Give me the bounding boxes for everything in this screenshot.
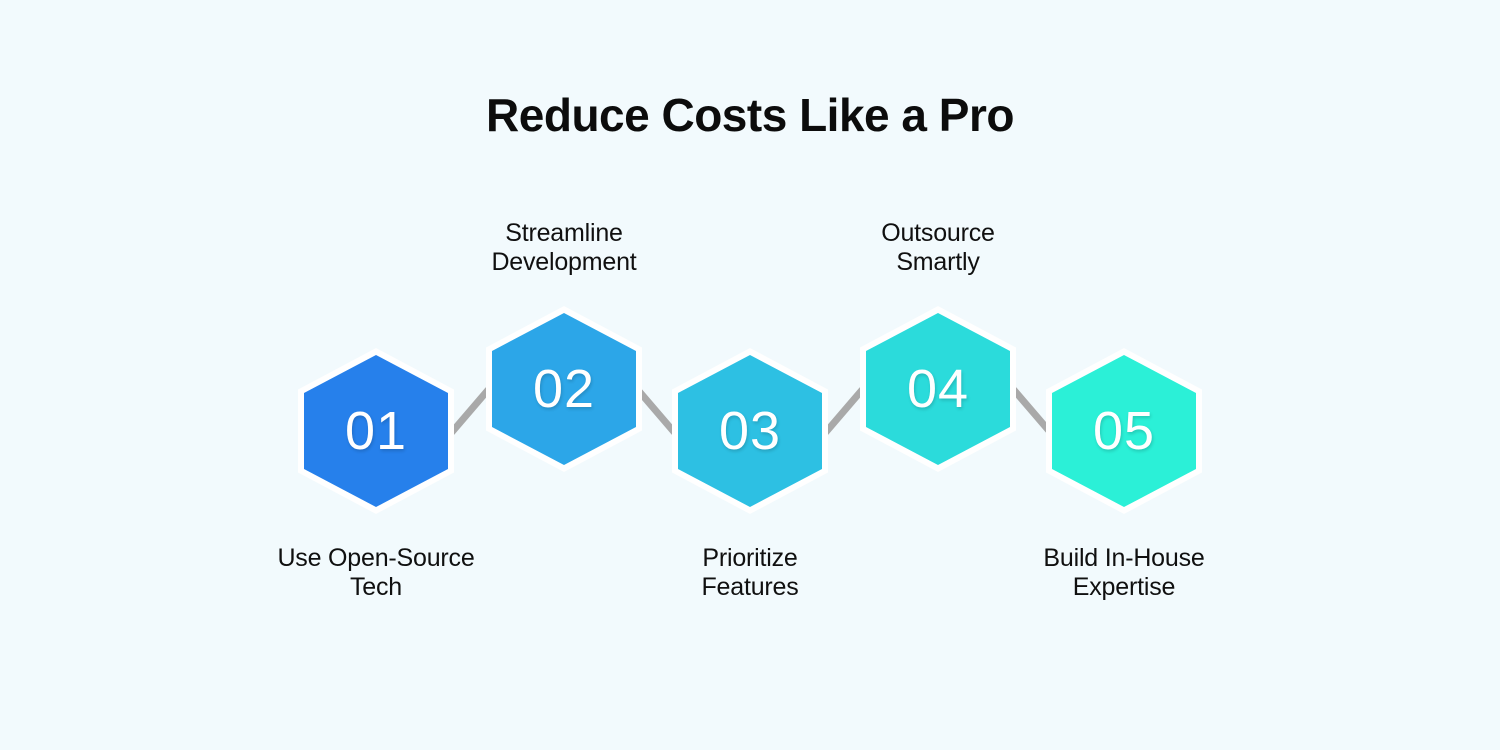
infographic-root: Reduce Costs Like a Pro 01 Use Open-Sour…: [0, 0, 1500, 750]
step-number-01: 01: [345, 404, 407, 458]
step-label-02: Streamline Development: [414, 219, 714, 276]
hexagon-02[interactable]: 02: [486, 306, 642, 472]
step-label-02-line1: Streamline: [414, 219, 714, 248]
step-label-04-line2: Smartly: [788, 248, 1088, 277]
step-01[interactable]: 01 Use Open-Source Tech: [298, 348, 454, 514]
step-label-03-line1: Prioritize: [600, 544, 900, 573]
step-label-04: Outsource Smartly: [788, 219, 1088, 276]
hexagon-03[interactable]: 03: [672, 348, 828, 514]
step-number-05: 05: [1093, 404, 1155, 458]
step-number-04: 04: [907, 362, 969, 416]
step-label-01-line2: Tech: [226, 573, 526, 602]
step-label-05-line1: Build In-House: [974, 544, 1274, 573]
step-label-01-line1: Use Open-Source: [226, 544, 526, 573]
step-label-02-line2: Development: [414, 248, 714, 277]
step-label-01: Use Open-Source Tech: [226, 544, 526, 601]
step-label-05: Build In-House Expertise: [974, 544, 1274, 601]
step-04[interactable]: 04 Outsource Smartly: [860, 306, 1016, 472]
step-05[interactable]: 05 Build In-House Expertise: [1046, 348, 1202, 514]
step-number-02: 02: [533, 362, 595, 416]
step-label-05-line2: Expertise: [974, 573, 1274, 602]
step-label-04-line1: Outsource: [788, 219, 1088, 248]
steps-layer: 01 Use Open-Source Tech 02 Streamline De…: [0, 0, 1500, 750]
hexagon-05[interactable]: 05: [1046, 348, 1202, 514]
step-03[interactable]: 03 Prioritize Features: [672, 348, 828, 514]
hexagon-04[interactable]: 04: [860, 306, 1016, 472]
step-number-03: 03: [719, 404, 781, 458]
step-02[interactable]: 02 Streamline Development: [486, 306, 642, 472]
step-label-03: Prioritize Features: [600, 544, 900, 601]
step-label-03-line2: Features: [600, 573, 900, 602]
hexagon-01[interactable]: 01: [298, 348, 454, 514]
